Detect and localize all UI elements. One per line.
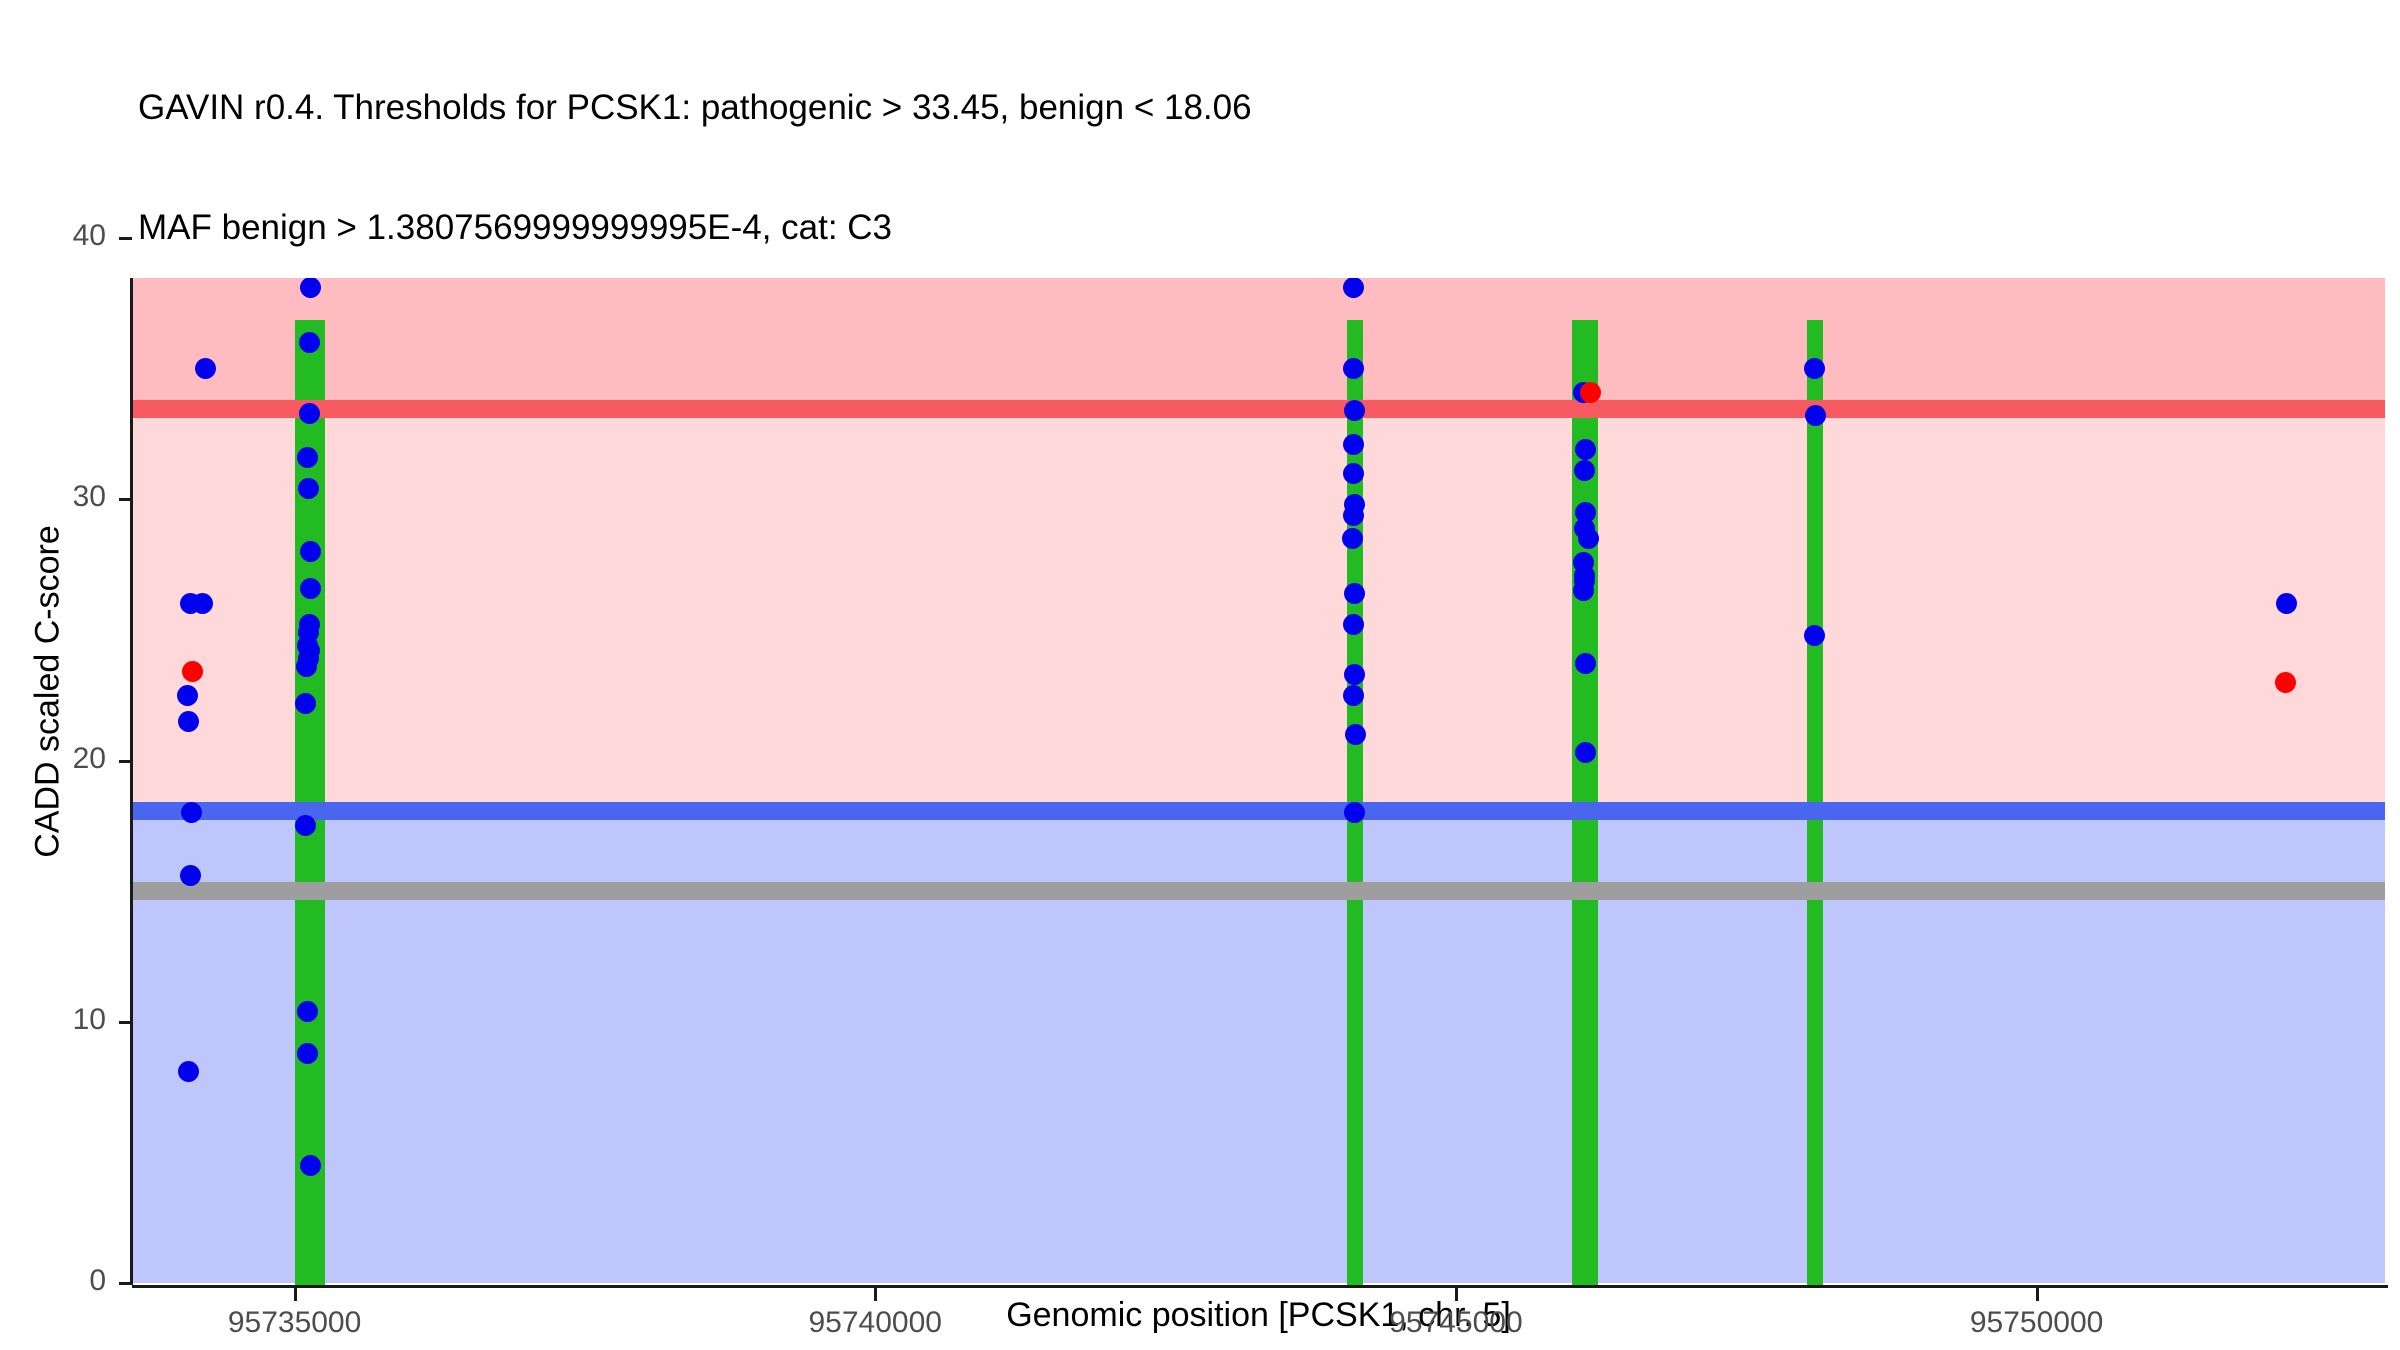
title-line-1: GAVIN r0.4. Thresholds for PCSK1: pathog… xyxy=(138,88,2338,128)
y-tick-mark xyxy=(119,498,132,501)
gnomad-variant-point xyxy=(1343,685,1364,706)
y-tick-label: 30 xyxy=(6,480,106,514)
gnomad-variant-point xyxy=(181,802,202,823)
y-tick-mark xyxy=(119,237,132,240)
clinvar-pathogenic-point xyxy=(1580,382,1601,403)
x-tick-label: 95750000 xyxy=(1907,1306,2167,1340)
gnomad-variant-point xyxy=(1344,400,1365,421)
y-tick-label: 0 xyxy=(6,1264,106,1298)
gnomad-variant-point xyxy=(1343,358,1364,379)
gnomad-variant-point xyxy=(1345,724,1366,745)
gnomad-variant-point xyxy=(195,358,216,379)
gnomad-variant-point xyxy=(180,865,201,886)
gnomad-variant-point xyxy=(177,685,198,706)
gnomad-variant-point xyxy=(1575,742,1596,763)
x-tick-mark xyxy=(874,1288,877,1301)
pathogenic-threshold-line xyxy=(132,400,2385,418)
zone-pathogenic xyxy=(132,278,2385,409)
zone-vus xyxy=(132,409,2385,811)
x-tick-mark xyxy=(294,1288,297,1301)
gnomad-variant-point xyxy=(299,332,320,353)
gnomad-variant-point xyxy=(297,1043,318,1064)
gnomad-variant-point xyxy=(1344,583,1365,604)
x-tick-label: 95745000 xyxy=(1326,1306,1586,1340)
title-line-2: MAF benign > 1.3807569999999995E-4, cat:… xyxy=(138,208,2338,248)
x-tick-label: 95740000 xyxy=(745,1306,1005,1340)
gnomad-variant-point xyxy=(299,403,320,424)
plot-panel xyxy=(132,278,2385,1285)
x-tick-label: 95735000 xyxy=(165,1306,425,1340)
gnomad-variant-point xyxy=(300,541,321,562)
gnomad-variant-point xyxy=(1343,463,1364,484)
gnomad-variant-point xyxy=(178,711,199,732)
y-tick-mark xyxy=(119,760,132,763)
gnomad-variant-point xyxy=(1343,505,1364,526)
chart-root: GAVIN r0.4. Thresholds for PCSK1: pathog… xyxy=(0,0,2400,1350)
x-tick-mark xyxy=(2036,1288,2039,1301)
y-axis-line xyxy=(130,278,133,1285)
gnomad-variant-point xyxy=(1804,625,1825,646)
y-tick-label: 40 xyxy=(6,219,106,253)
fallback-threshold-line xyxy=(132,882,2385,900)
gnomad-variant-point xyxy=(1344,664,1365,685)
gnomad-variant-point xyxy=(296,656,317,677)
y-tick-label: 10 xyxy=(6,1003,106,1037)
gnomad-variant-point xyxy=(295,693,316,714)
y-tick-label: 20 xyxy=(6,742,106,776)
x-axis-line xyxy=(132,1285,2388,1288)
gnomad-variant-point xyxy=(300,578,321,599)
x-tick-mark xyxy=(1455,1288,1458,1301)
benign-threshold-line xyxy=(132,802,2385,820)
y-tick-mark xyxy=(119,1021,132,1024)
y-tick-mark xyxy=(119,1282,132,1285)
clinvar-pathogenic-point xyxy=(2275,672,2296,693)
